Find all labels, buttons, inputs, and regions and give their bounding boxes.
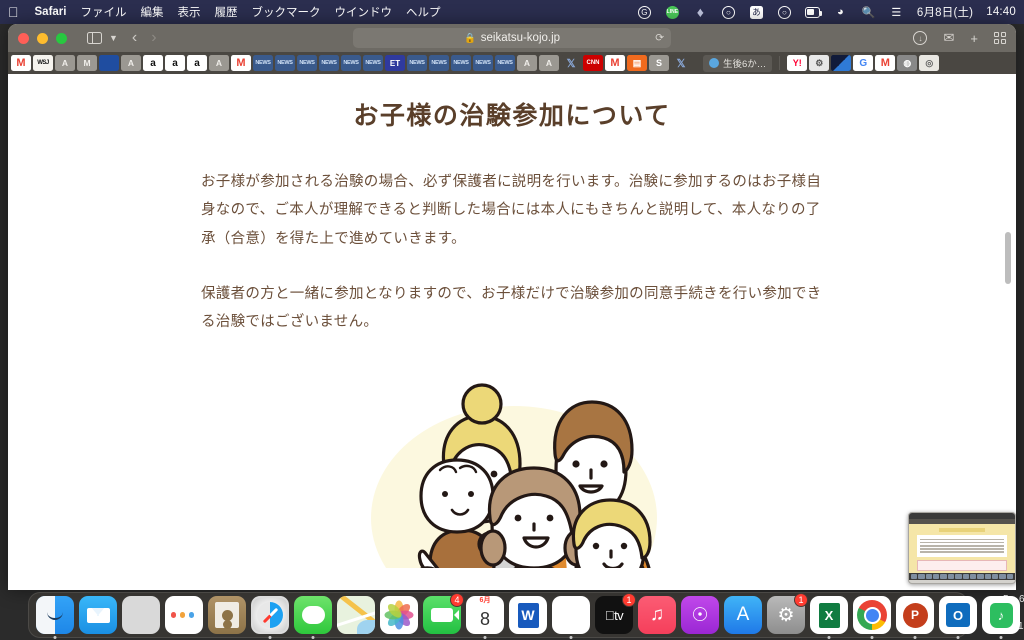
menu-item-help[interactable]: ヘルプ bbox=[406, 4, 441, 20]
evernote-icon[interactable]: ♦ bbox=[693, 5, 708, 20]
dock-running-indicator bbox=[269, 636, 272, 639]
outlook-icon: O bbox=[939, 596, 977, 634]
url-text: seikatsu-kojo.jp bbox=[481, 32, 560, 44]
dock-running-indicator bbox=[914, 636, 917, 639]
reminders-icon bbox=[165, 596, 203, 634]
paragraph-2: 保護者の方と一緒に参加となりますので、お子様だけで治験参加の同意手続きを行い参加… bbox=[201, 280, 823, 337]
bookmark-separator bbox=[779, 56, 780, 70]
bookmark-generic-a3[interactable]: A bbox=[209, 55, 229, 71]
chrome-icon bbox=[853, 596, 891, 634]
menu-item-edit[interactable]: 編集 bbox=[140, 4, 163, 20]
downloads-icon[interactable]: ↓ bbox=[913, 31, 927, 45]
reload-icon[interactable]: ⟳ bbox=[655, 32, 664, 44]
forward-button[interactable]: › bbox=[151, 29, 156, 47]
preview-title bbox=[939, 528, 985, 532]
water-drop-icon bbox=[709, 58, 719, 68]
bookmark-generic-a1[interactable]: A bbox=[55, 55, 75, 71]
preview-card-alert bbox=[917, 560, 1007, 571]
bookmark-folder-label[interactable]: 生後6か… bbox=[703, 55, 772, 72]
page-content: お子様の治験参加について お子様が参加される治験の場合、必ず保護者に説明を行いま… bbox=[8, 74, 1016, 568]
bookmark-skype[interactable]: S bbox=[649, 55, 669, 71]
bookmark-folder-text: 生後6か… bbox=[723, 56, 766, 70]
line-icon[interactable]: LINE bbox=[665, 5, 680, 20]
bookmark-gmail4[interactable]: M bbox=[875, 55, 895, 71]
dock: 46月8Wtv1♫☉A⚙1XPO♪LINE bbox=[28, 592, 968, 638]
dock-item-maps[interactable] bbox=[337, 596, 375, 634]
dock-item-messages[interactable] bbox=[294, 596, 332, 634]
bookmark-cnn[interactable]: CNN bbox=[583, 55, 603, 71]
scrollbar-thumb[interactable] bbox=[1005, 232, 1011, 284]
dock-item-system-settings[interactable]: ⚙1 bbox=[767, 596, 805, 634]
bookmark-orange-app[interactable]: ▤ bbox=[627, 55, 647, 71]
bookmark-et[interactable]: ET bbox=[385, 55, 405, 71]
podcasts-icon: ☉ bbox=[681, 596, 719, 634]
sidebar-toggle-icon[interactable] bbox=[87, 32, 102, 44]
launchpad-icon bbox=[122, 596, 160, 634]
vertical-scrollbar[interactable] bbox=[1003, 74, 1012, 568]
dock-item-app-store[interactable]: A bbox=[724, 596, 762, 634]
bookmark-news2[interactable]: NEWS bbox=[275, 55, 295, 71]
dock-item-music[interactable]: ♫ bbox=[638, 596, 676, 634]
safari-icon bbox=[251, 596, 289, 634]
close-button[interactable] bbox=[18, 33, 29, 44]
bookmark-gmail2[interactable]: M bbox=[231, 55, 251, 71]
battery-icon[interactable] bbox=[805, 5, 820, 20]
bookmark-navy-site[interactable] bbox=[831, 55, 851, 71]
bookmark-yahoo-japan[interactable]: Y! bbox=[787, 55, 807, 71]
bookmark-circle-site[interactable]: ◎ bbox=[919, 55, 939, 71]
dock-item-chrome[interactable] bbox=[853, 596, 891, 634]
dock-item-safari[interactable] bbox=[251, 596, 289, 634]
dock-item-contacts[interactable] bbox=[208, 596, 246, 634]
dock-badge-facetime: 4 bbox=[450, 593, 464, 607]
photos-icon bbox=[380, 596, 418, 634]
preview-body bbox=[909, 524, 1015, 573]
timemachine-icon[interactable]: ○ bbox=[777, 5, 792, 20]
dock-running-indicator bbox=[1000, 636, 1003, 639]
bookmark-blue-globe[interactable] bbox=[99, 55, 119, 71]
apple-menu-icon[interactable]:  bbox=[8, 5, 19, 19]
preview-card bbox=[917, 535, 1007, 557]
dock-running-indicator bbox=[828, 636, 831, 639]
dock-item-finder[interactable] bbox=[36, 596, 74, 634]
wifi-icon[interactable]: ◕ bbox=[833, 5, 848, 20]
bookmark-wsj[interactable]: WSJ bbox=[33, 55, 53, 71]
messages-icon bbox=[294, 596, 332, 634]
dock-item-calendar[interactable]: 6月8 bbox=[466, 596, 504, 634]
minimize-button[interactable] bbox=[37, 33, 48, 44]
dock-running-indicator bbox=[484, 636, 487, 639]
clock-icon[interactable]: ○ bbox=[721, 5, 736, 20]
dock-item-launchpad[interactable] bbox=[122, 596, 160, 634]
menu-item-view[interactable]: 表示 bbox=[177, 4, 200, 20]
page-title: お子様の治験参加について bbox=[8, 96, 1016, 132]
bookmark-news7[interactable]: NEWS bbox=[407, 55, 427, 71]
bookmark-news5[interactable]: NEWS bbox=[341, 55, 361, 71]
finder-icon bbox=[36, 596, 74, 634]
notes-icon bbox=[552, 596, 590, 634]
menu-item-bookmarks[interactable]: ブックマーク bbox=[251, 4, 320, 20]
dock-item-notes[interactable] bbox=[552, 596, 590, 634]
dock-running-indicator bbox=[570, 636, 573, 639]
bookmark-gear-site[interactable]: ⚙ bbox=[809, 55, 829, 71]
address-bar[interactable]: 🔒 seikatsu-kojo.jp ⟳ bbox=[353, 28, 671, 48]
bookmark-news10[interactable]: NEWS bbox=[473, 55, 493, 71]
macos-menu-bar:  Safari ファイル 編集 表示 履歴 ブックマーク ウインドウ ヘルプ … bbox=[0, 0, 1024, 24]
dock-running-indicator bbox=[871, 636, 874, 639]
chevron-down-icon[interactable]: ▼ bbox=[109, 33, 118, 43]
dock-running-indicator bbox=[957, 636, 960, 639]
bookmark-amazon3[interactable]: a bbox=[187, 55, 207, 71]
dock-item-photos[interactable] bbox=[380, 596, 418, 634]
dock-item-reminders[interactable] bbox=[165, 596, 203, 634]
menubar-date[interactable]: 6月8日(土) bbox=[917, 4, 973, 20]
bookmark-amazon1[interactable]: a bbox=[143, 55, 163, 71]
dock-item-apple-tv[interactable]: tv1 bbox=[595, 596, 633, 634]
bookmark-news1[interactable]: NEWS bbox=[253, 55, 273, 71]
dock-item-word[interactable]: W bbox=[509, 596, 547, 634]
menu-item-file[interactable]: ファイル bbox=[80, 4, 126, 20]
family-illustration bbox=[312, 358, 712, 568]
maps-icon bbox=[337, 596, 375, 634]
spotlight-search-icon[interactable]: 🔍 bbox=[861, 5, 876, 20]
dock-item-facetime[interactable]: 4 bbox=[423, 596, 461, 634]
contacts-icon bbox=[208, 596, 246, 634]
dock-item-powerpoint[interactable]: P bbox=[896, 596, 934, 634]
safari-window: ▼ ‹ › 🔒 seikatsu-kojo.jp ⟳ ↓ ✉ + MWSJAMA… bbox=[8, 24, 1016, 590]
excel-icon: X bbox=[810, 596, 848, 634]
bookmark-google[interactable]: G bbox=[853, 55, 873, 71]
window-controls bbox=[18, 33, 67, 44]
share-icon[interactable]: ✉ bbox=[943, 30, 954, 46]
bookmark-twitter-x1[interactable]: 𝕏 bbox=[561, 55, 581, 71]
word-icon: W bbox=[509, 596, 547, 634]
bookmark-news6[interactable]: NEWS bbox=[363, 55, 383, 71]
bookmark-generic-a5[interactable]: A bbox=[539, 55, 559, 71]
music-icon: ♫ bbox=[638, 596, 676, 634]
dock-item-podcasts[interactable]: ☉ bbox=[681, 596, 719, 634]
bookmark-news4[interactable]: NEWS bbox=[319, 55, 339, 71]
browser-toolbar: ▼ ‹ › 🔒 seikatsu-kojo.jp ⟳ ↓ ✉ + bbox=[8, 24, 1016, 52]
menu-app-name[interactable]: Safari bbox=[35, 6, 67, 18]
bookmark-generic-a4[interactable]: A bbox=[517, 55, 537, 71]
bookmark-news3[interactable]: NEWS bbox=[297, 55, 317, 71]
bookmark-twitter-x2[interactable]: 𝕏 bbox=[671, 55, 691, 71]
back-button[interactable]: ‹ bbox=[132, 29, 137, 47]
app-store-icon: A bbox=[724, 596, 762, 634]
ime-japanese-icon[interactable]: あ bbox=[749, 5, 764, 20]
mail-icon bbox=[79, 596, 117, 634]
bookmark-gmail3[interactable]: M bbox=[605, 55, 625, 71]
dock-item-mail[interactable] bbox=[79, 596, 117, 634]
grammarly-icon[interactable]: G bbox=[637, 5, 652, 20]
paragraph-1: お子様が参加される治験の場合、必ず保護者に説明を行います。治験に参加するのはお子… bbox=[201, 168, 823, 253]
menu-item-window[interactable]: ウインドウ bbox=[334, 4, 392, 20]
bookmark-opera[interactable]: ◍ bbox=[897, 55, 917, 71]
window-preview-thumbnail[interactable] bbox=[908, 512, 1016, 584]
bookmarks-bar: MWSJAMAaaaAMNEWSNEWSNEWSNEWSNEWSNEWSETNE… bbox=[8, 52, 1016, 74]
control-center-icon[interactable]: ☰ bbox=[889, 5, 904, 20]
dock-item-excel[interactable]: X bbox=[810, 596, 848, 634]
preview-dock bbox=[909, 573, 1015, 580]
bookmark-gmail[interactable]: M bbox=[11, 55, 31, 71]
dock-running-indicator bbox=[312, 636, 315, 639]
bookmark-news11[interactable]: NEWS bbox=[495, 55, 515, 71]
bookmark-generic-m[interactable]: M bbox=[77, 55, 97, 71]
bookmark-amazon2[interactable]: a bbox=[165, 55, 185, 71]
calendar-icon: 6月8 bbox=[466, 596, 504, 634]
bookmark-news8[interactable]: NEWS bbox=[429, 55, 449, 71]
dock-badge-system-settings: 1 bbox=[794, 593, 808, 607]
powerpoint-icon: P bbox=[896, 596, 934, 634]
evernote-icon: ♪ bbox=[982, 596, 1020, 634]
new-tab-button[interactable]: + bbox=[970, 31, 978, 46]
lock-icon: 🔒 bbox=[464, 33, 476, 44]
zoom-button[interactable] bbox=[56, 33, 67, 44]
dock-item-evernote[interactable]: ♪ bbox=[982, 596, 1020, 634]
bookmark-generic-a2[interactable]: A bbox=[121, 55, 141, 71]
dock-running-indicator bbox=[54, 636, 57, 639]
dock-badge-apple-tv: 1 bbox=[622, 593, 636, 607]
menubar-time[interactable]: 14:40 bbox=[986, 6, 1016, 18]
tab-overview-icon[interactable] bbox=[994, 32, 1006, 44]
menu-item-history[interactable]: 履歴 bbox=[214, 4, 237, 20]
dock-item-outlook[interactable]: O bbox=[939, 596, 977, 634]
bookmark-news9[interactable]: NEWS bbox=[451, 55, 471, 71]
